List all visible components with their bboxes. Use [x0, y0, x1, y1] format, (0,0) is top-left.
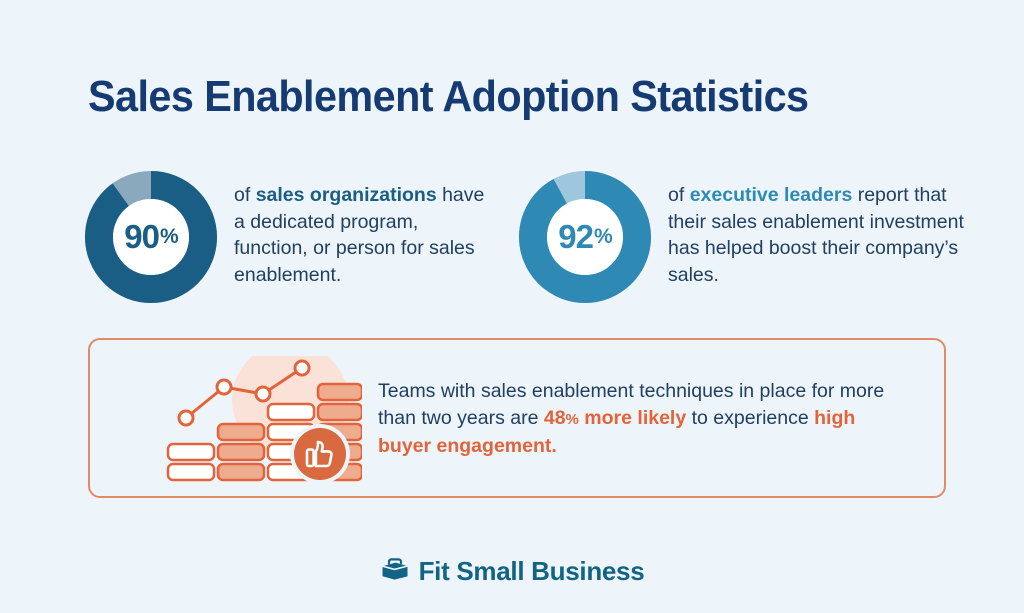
growth-chart-illustration	[162, 356, 362, 484]
callout-bold-number: 48	[544, 407, 566, 429]
callout-text: Teams with sales enablement techniques i…	[378, 378, 898, 460]
donut-percent-sign: %	[594, 225, 612, 249]
stat-block-executive-leaders: 92% of executive leaders report that the…	[518, 170, 968, 304]
briefcase-icon	[380, 556, 410, 587]
donut-number: 90	[124, 218, 159, 256]
infographic-page: Sales Enablement Adoption Statistics 90%…	[0, 0, 1024, 613]
donut-percent-sign: %	[160, 225, 178, 249]
callout-bold-rest: more likely	[579, 407, 686, 429]
donut-chart-92: 92%	[518, 170, 652, 304]
stat-block-sales-organizations: 90% of sales organizations have a dedica…	[84, 170, 492, 304]
callout-bold-1: 48% more likely	[544, 407, 686, 429]
donut-value-90: 90%	[84, 170, 218, 304]
page-title: Sales Enablement Adoption Statistics	[88, 72, 934, 122]
stat-text-before: of	[668, 184, 690, 206]
donut-number: 92	[558, 218, 593, 256]
stat-text-sales-organizations: of sales organizations have a dedicated …	[234, 170, 492, 288]
stat-text-before: of	[234, 184, 256, 206]
donut-value-92: 92%	[518, 170, 652, 304]
thumbs-up-badge	[290, 424, 350, 484]
stat-text-executive-leaders: of executive leaders report that their s…	[668, 170, 968, 288]
callout-bold-percent: %	[566, 411, 579, 428]
callout-text-2: to experience	[686, 407, 814, 429]
callout-box: Teams with sales enablement techniques i…	[88, 338, 946, 498]
donut-chart-90: 90%	[84, 170, 218, 304]
footer-logo: Fit Small Business	[0, 556, 1024, 587]
stat-text-bold: executive leaders	[690, 184, 853, 206]
brand-name: Fit Small Business	[419, 556, 645, 587]
stat-text-bold: sales organizations	[256, 184, 437, 206]
